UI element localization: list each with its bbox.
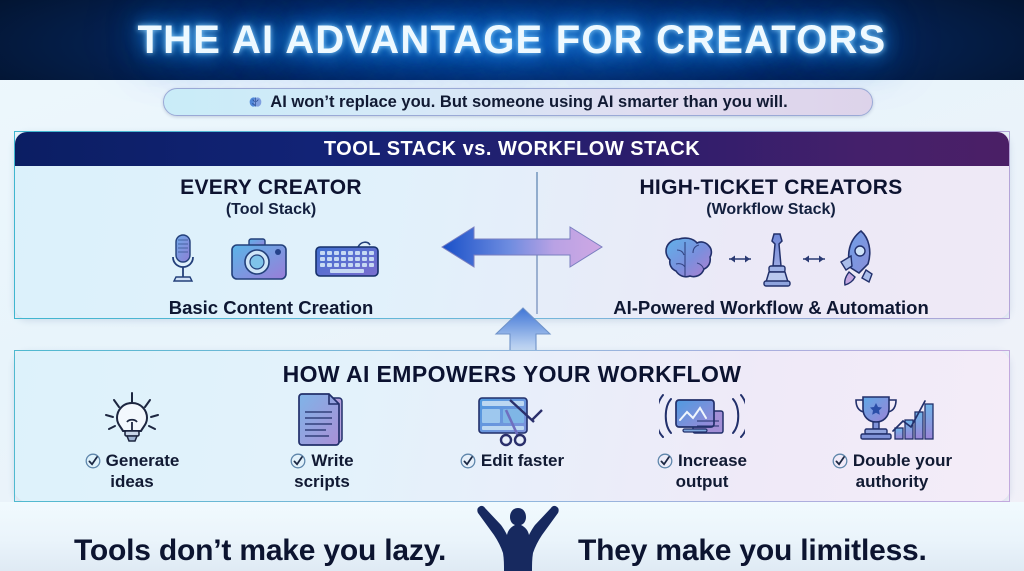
subtitle-text: AI won’t replace you. But someone using … (270, 93, 787, 112)
benefit-label: Generate ideas (85, 452, 180, 491)
benefit-label: Increase output (657, 452, 747, 491)
keyboard-icon (314, 239, 380, 279)
benefit-label: Edit faster (460, 452, 564, 473)
every-creator-column: EVERY CREATOR (Tool Stack) (31, 176, 511, 319)
high-ticket-subtitle: (Workflow Stack) (531, 201, 1011, 219)
lightbulb-icon (39, 391, 225, 449)
video-edit-icon (419, 391, 605, 449)
benefit-item: Write scripts (229, 391, 415, 492)
benefit-text-line1: Double your (853, 452, 952, 470)
document-icon (229, 391, 415, 449)
brain-icon (248, 95, 263, 109)
trophy-chart-icon (799, 391, 985, 449)
check-circle-icon (657, 453, 673, 469)
high-ticket-footer: AI-Powered Workflow & Automation (531, 297, 1011, 319)
arrow-up-icon (494, 307, 552, 355)
title-banner: THE AI ADVANTAGE FOR CREATORS (0, 0, 1024, 80)
check-circle-icon (460, 453, 476, 469)
tool-stack-icons (31, 228, 511, 290)
caption-left: Tools don’t make you lazy. (74, 534, 446, 568)
benefit-text-line2: ideas (110, 472, 153, 491)
benefit-text-line2: scripts (294, 472, 350, 491)
benefit-text-line2: authority (856, 472, 929, 491)
broadcast-icon (609, 391, 795, 449)
workflow-panel-title: HOW AI EMPOWERS YOUR WORKFLOW (15, 361, 1009, 388)
benefit-label: Write scripts (290, 452, 353, 491)
benefit-label: Double your authority (832, 452, 952, 491)
benefit-list: Generate ideas (15, 391, 1009, 499)
check-circle-icon (85, 453, 101, 469)
every-creator-footer: Basic Content Creation (31, 297, 511, 319)
check-circle-icon (832, 453, 848, 469)
double-arrow-icon (797, 248, 831, 270)
benefit-item: Generate ideas (39, 391, 225, 492)
subtitle-pill: AI won’t replace you. But someone using … (163, 88, 873, 116)
caption-zone: Tools don’t make you lazy. They make you… (0, 502, 1024, 571)
benefit-item: Double your authority (799, 391, 985, 492)
page-title: THE AI ADVANTAGE FOR CREATORS (138, 18, 887, 63)
camera-icon (230, 236, 288, 282)
comparison-panel-header: TOOL STACK vs. WORKFLOW STACK (15, 132, 1009, 166)
every-creator-title: EVERY CREATOR (31, 176, 511, 200)
rocket-icon (835, 228, 879, 290)
check-circle-icon (290, 453, 306, 469)
benefit-text-line2: output (676, 472, 729, 491)
chess-piece-icon (761, 230, 793, 288)
comparison-panel-title: TOOL STACK vs. WORKFLOW STACK (324, 138, 700, 161)
benefit-text-line1: Edit faster (481, 452, 564, 470)
bidirectional-arrow-icon (440, 222, 604, 272)
brain-icon (663, 233, 719, 285)
caption-right: They make you limitless. (578, 534, 927, 568)
benefit-text-line1: Generate (106, 452, 180, 470)
double-arrow-icon (723, 248, 757, 270)
high-ticket-title: HIGH-TICKET CREATORS (531, 176, 1011, 200)
benefit-text-line1: Increase (678, 452, 747, 470)
benefit-item: Edit faster (419, 391, 605, 474)
every-creator-subtitle: (Tool Stack) (31, 201, 511, 219)
benefit-text-line1: Write (311, 452, 353, 470)
microphone-icon (162, 231, 204, 287)
benefit-item: Increase output (609, 391, 795, 492)
workflow-panel: HOW AI EMPOWERS YOUR WORKFLOW (14, 350, 1010, 502)
person-arms-raised-silhouette (443, 502, 593, 571)
